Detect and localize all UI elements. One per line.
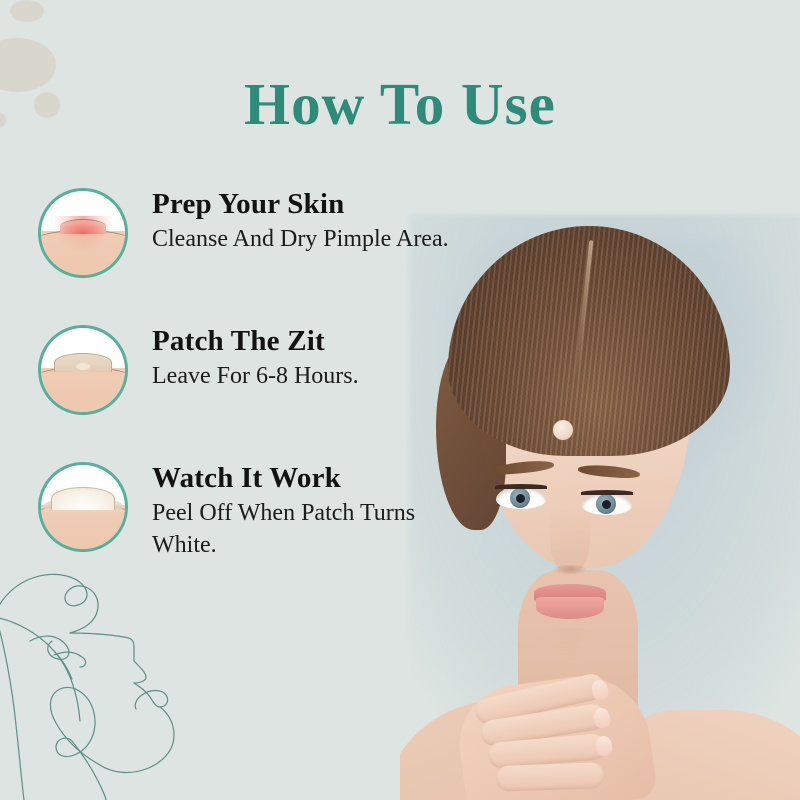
- line-art-lips: [134, 683, 168, 709]
- model-pupil-right: [602, 500, 611, 509]
- step-description: Cleanse And Dry Pimple Area.: [152, 224, 449, 255]
- line-art-nose: [134, 661, 146, 683]
- model-pupil-left: [516, 494, 525, 503]
- line-art-jaw: [100, 707, 174, 772]
- model-lash-left: [495, 484, 547, 489]
- model-lash-right: [581, 490, 633, 495]
- pimple-bump: [60, 219, 106, 234]
- line-art-cheek-line: [54, 651, 72, 679]
- line-art-eye-right: [54, 652, 86, 667]
- forehead-pimple-patch: [553, 420, 573, 440]
- line-art-eye-lash-left: [30, 636, 69, 659]
- step-item-3: Watch It Work Peel Off When Patch Turns …: [38, 460, 468, 561]
- model-nostrils: [552, 565, 588, 575]
- step-text-2: Patch The Zit Leave For 6-8 Hours.: [152, 323, 359, 393]
- how-to-use-poster: How To Use Prep Your Skin Cleanse And Dr…: [0, 0, 800, 800]
- step-title: Watch It Work: [152, 462, 462, 495]
- line-art-back-contour: [0, 617, 24, 800]
- model-iris-right: [596, 494, 616, 514]
- model-iris-left: [510, 488, 530, 508]
- patch-highlight: [76, 363, 90, 370]
- model-lower-lip: [536, 597, 604, 619]
- pimple-inflamed-icon: [38, 188, 128, 278]
- model-chin: [532, 628, 608, 662]
- line-art-brow-bridge: [70, 633, 134, 661]
- step-item-1: Prep Your Skin Cleanse And Dry Pimple Ar…: [38, 186, 468, 278]
- step-description: Peel Off When Patch Turns White.: [152, 498, 462, 560]
- step-description: Leave For 6-8 Hours.: [152, 361, 359, 392]
- patch-turned-white-icon: [38, 462, 128, 552]
- page-title: How To Use: [0, 74, 800, 136]
- beige-dot-4: [10, 0, 44, 22]
- line-art-neck: [72, 741, 106, 800]
- line-art-loop: [50, 687, 100, 765]
- step-title: Prep Your Skin: [152, 188, 449, 221]
- patch-applied-icon: [38, 325, 128, 415]
- step-text-1: Prep Your Skin Cleanse And Dry Pimple Ar…: [152, 186, 449, 256]
- model-finger-4: [496, 762, 605, 792]
- line-art-forehead: [0, 617, 80, 721]
- step-text-3: Watch It Work Peel Off When Patch Turns …: [152, 460, 462, 561]
- step-item-2: Patch The Zit Leave For 6-8 Hours.: [38, 323, 468, 415]
- step-title: Patch The Zit: [152, 325, 359, 358]
- steps-list: Prep Your Skin Cleanse And Dry Pimple Ar…: [38, 186, 468, 606]
- model-eye-left: [496, 486, 546, 509]
- saturated-white-patch: [51, 487, 115, 510]
